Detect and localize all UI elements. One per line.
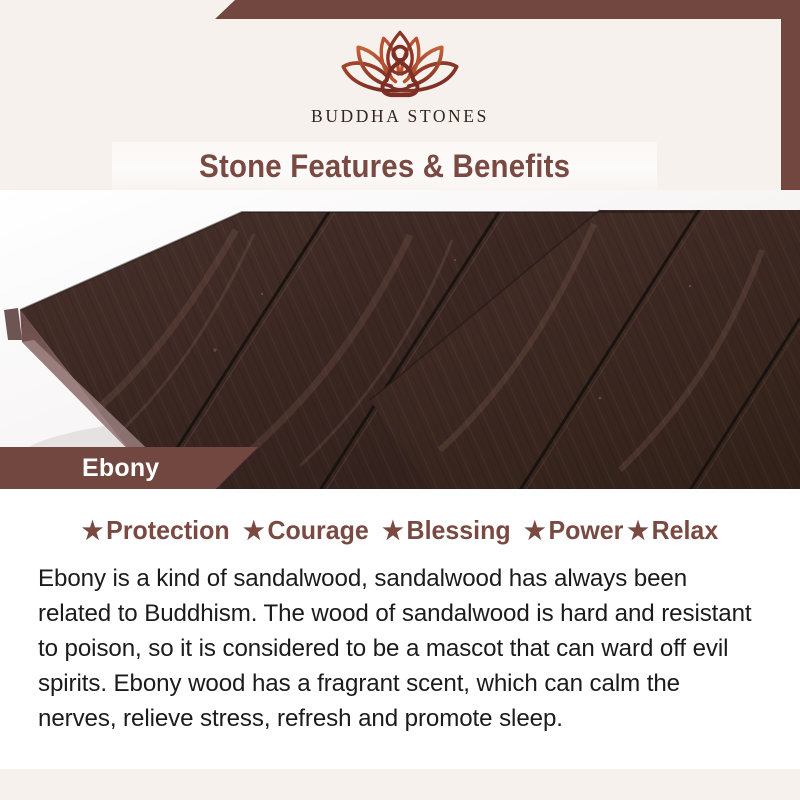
benefit-item-blessing: ★ Blessing	[382, 515, 510, 546]
benefit-label: Protection	[106, 515, 229, 546]
benefit-label: Blessing	[407, 515, 511, 546]
page-title: Stone Features & Benefits	[199, 148, 570, 185]
lotus-meditation-icon	[325, 22, 475, 104]
stone-features-infographic: BUDDHA STONES Stone Features & Benefits	[0, 0, 800, 800]
star-icon: ★	[243, 519, 265, 544]
benefit-item-relax: ★ Relax	[627, 515, 718, 546]
benefit-label: Relax	[652, 515, 719, 546]
description-text: Ebony is a kind of sandalwood, sandalwoo…	[38, 561, 757, 736]
benefit-label: Power	[548, 515, 623, 546]
star-icon: ★	[82, 519, 104, 544]
title-band: Stone Features & Benefits	[112, 142, 657, 190]
brand-wordmark: BUDDHA STONES	[311, 106, 489, 127]
star-icon: ★	[524, 519, 546, 544]
star-icon: ★	[382, 519, 404, 544]
benefit-item-power: ★ Power	[524, 515, 623, 546]
content-panel: ★ Protection ★ Courage ★ Blessing ★ Powe…	[0, 489, 800, 769]
benefits-list: ★ Protection ★ Courage ★ Blessing ★ Powe…	[16, 515, 784, 546]
product-photo	[0, 190, 800, 490]
benefit-item-protection: ★ Protection	[82, 515, 230, 546]
product-name-banner: Ebony	[0, 447, 258, 489]
benefit-label: Courage	[267, 515, 368, 546]
benefit-item-courage: ★ Courage	[243, 515, 369, 546]
bottom-margin	[0, 769, 800, 800]
star-icon: ★	[627, 519, 649, 544]
ebony-planks-illustration	[0, 190, 800, 490]
product-name: Ebony	[82, 454, 159, 483]
brand-header: BUDDHA STONES	[0, 0, 800, 148]
